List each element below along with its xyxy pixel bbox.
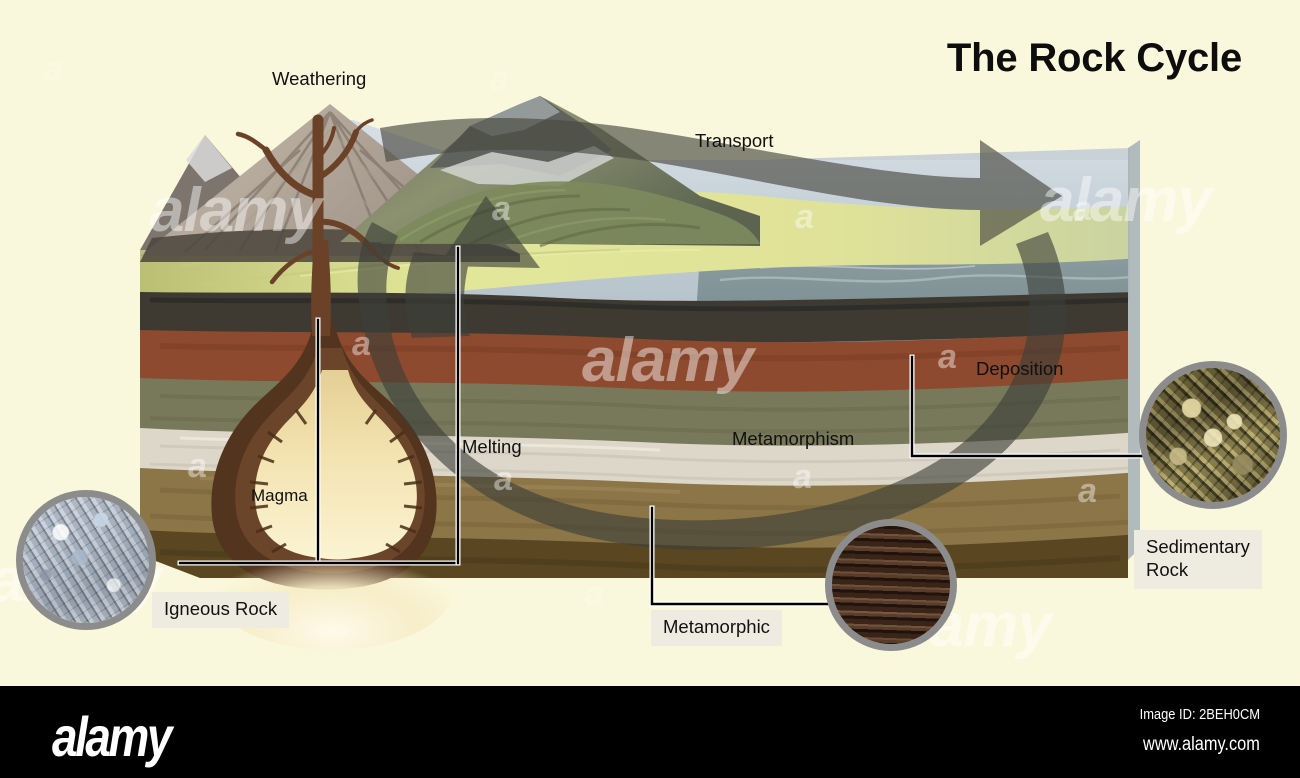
label-sedimentary-rock: Sedimentary Rock <box>1134 530 1262 589</box>
image-id-text: Image ID: 2BEH0CM <box>1120 706 1260 723</box>
alamy-url-text: www.alamy.com <box>1124 734 1260 756</box>
alamy-url-value: www.alamy.com <box>1143 734 1260 756</box>
sedimentary-rock-sample <box>1139 361 1287 509</box>
label-igneous-rock: Igneous Rock <box>152 592 289 628</box>
metamorphic-rock-sample <box>825 519 957 651</box>
label-deposition: Deposition <box>976 358 1063 381</box>
alamy-logo: alamy <box>52 704 170 769</box>
label-magma: Magma <box>251 485 308 506</box>
rock-cycle-illustration: a alamy alamy alamy alamy alamy a a a a … <box>0 0 1300 686</box>
label-weathering: Weathering <box>272 68 366 91</box>
label-metamorphism: Metamorphism <box>732 428 854 451</box>
screenshot-root: a alamy alamy alamy alamy alamy a a a a … <box>0 0 1300 778</box>
metamorphic-rock-texture <box>832 526 950 644</box>
sedimentary-rock-texture <box>1146 368 1280 502</box>
page-title: The Rock Cycle <box>947 36 1242 81</box>
geology-block-diagram <box>0 0 1300 686</box>
alamy-footer-bar: alamy Image ID: 2BEH0CM www.alamy.com <box>0 686 1300 778</box>
label-transport: Transport <box>695 130 773 153</box>
label-metamorphic: Metamorphic <box>651 610 782 646</box>
igneous-rock-sample <box>16 490 156 630</box>
igneous-rock-texture <box>23 497 149 623</box>
label-melting: Melting <box>462 436 522 459</box>
image-id-value: Image ID: 2BEH0CM <box>1140 706 1260 723</box>
